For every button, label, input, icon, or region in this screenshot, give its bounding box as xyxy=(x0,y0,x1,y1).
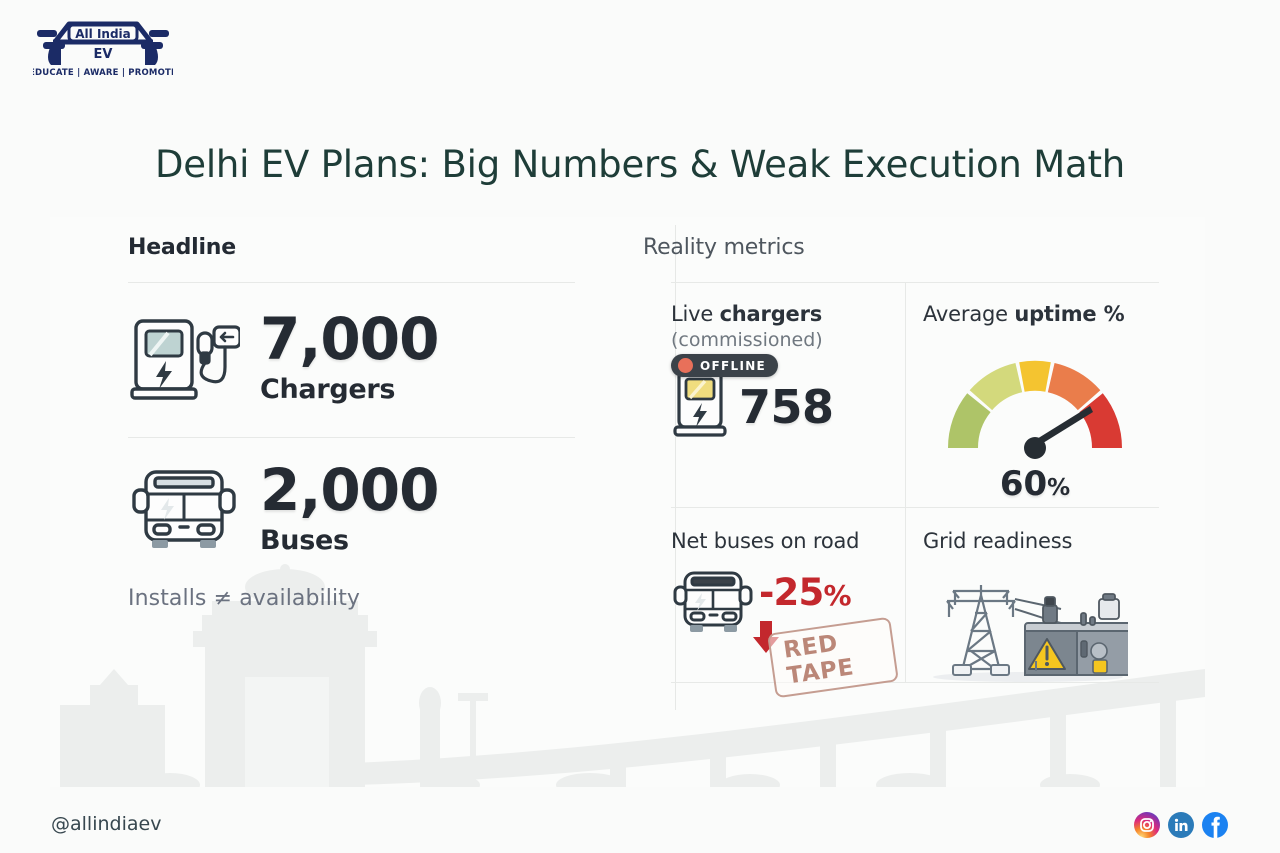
reality-metrics-title: Reality metrics xyxy=(643,235,1157,260)
logo-tagline: EDUCATE | AWARE | PROMOTE xyxy=(33,68,173,78)
net-buses-title: Net buses on road xyxy=(671,529,895,553)
facebook-icon[interactable] xyxy=(1202,812,1228,838)
logo-line-2: EV xyxy=(94,47,113,62)
grid-readiness-title: Grid readiness xyxy=(923,529,1147,553)
electric-bus-icon xyxy=(671,567,753,643)
ev-charger-offline-icon xyxy=(671,365,733,449)
live-chargers-subtitle: (commissioned) xyxy=(671,329,895,351)
net-buses-unit: % xyxy=(823,579,850,612)
headline-panel-title: Headline xyxy=(128,235,575,260)
metric-average-uptime: Average uptime % xyxy=(905,282,1157,507)
brand-logo: All India EV EDUCATE | AWARE | PROMOTE xyxy=(33,12,173,80)
average-uptime-title-bold: uptime % xyxy=(1014,302,1124,326)
page-title: Delhi EV Plans: Big Numbers & Weak Execu… xyxy=(0,143,1280,186)
buses-label: Buses xyxy=(260,525,438,556)
live-chargers-title-bold: chargers xyxy=(720,302,822,326)
live-chargers-value: 758 xyxy=(739,380,834,434)
divider xyxy=(128,437,575,438)
net-buses-value: -25% xyxy=(759,571,851,614)
net-buses-number: -25 xyxy=(759,571,823,614)
infographic-card: Headline xyxy=(50,217,1205,787)
status-badge-label: OFFLINE xyxy=(700,359,766,373)
ev-charging-station-icon xyxy=(128,309,240,411)
chargers-label: Chargers xyxy=(260,374,438,405)
uptime-unit: % xyxy=(1047,475,1070,501)
instagram-icon[interactable] xyxy=(1134,812,1160,838)
social-handle: @allindiaev xyxy=(51,813,161,835)
red-tape-stamp: RED TAPE xyxy=(767,617,899,699)
metric-net-buses: Net buses on road xyxy=(643,507,905,682)
live-chargers-title: Live chargers xyxy=(671,302,895,326)
metric-live-chargers: Live chargers (commissioned) xyxy=(643,282,905,507)
gauge-icon xyxy=(935,340,1135,470)
chargers-value: 7,000 xyxy=(260,311,438,368)
logo-line-1: All India xyxy=(75,27,131,41)
average-uptime-title: Average uptime % xyxy=(923,302,1147,326)
metrics-grid: Live chargers (commissioned) xyxy=(643,282,1157,682)
metric-grid-readiness: Grid readiness xyxy=(905,507,1157,682)
status-badge-offline: OFFLINE xyxy=(671,354,778,377)
average-uptime-title-plain: Average xyxy=(923,302,1014,326)
buses-value: 2,000 xyxy=(260,462,438,519)
linkedin-icon[interactable] xyxy=(1168,812,1194,838)
stat-chargers: 7,000 Chargers xyxy=(128,309,575,411)
headline-footnote: Installs ≠ availability xyxy=(128,586,575,611)
power-grid-transformer-warning-icon xyxy=(923,565,1147,689)
divider xyxy=(128,282,575,283)
live-chargers-title-plain: Live xyxy=(671,302,720,326)
status-dot-icon xyxy=(678,358,693,373)
reality-metrics-panel: Reality metrics Live chargers (commissio… xyxy=(615,217,1205,787)
stat-buses: 2,000 Buses xyxy=(128,462,575,560)
social-links[interactable] xyxy=(1134,812,1228,838)
infographic-page: All India EV EDUCATE | AWARE | PROMOTE D… xyxy=(0,0,1280,853)
electric-bus-icon xyxy=(128,464,240,558)
headline-panel: Headline xyxy=(50,217,615,787)
